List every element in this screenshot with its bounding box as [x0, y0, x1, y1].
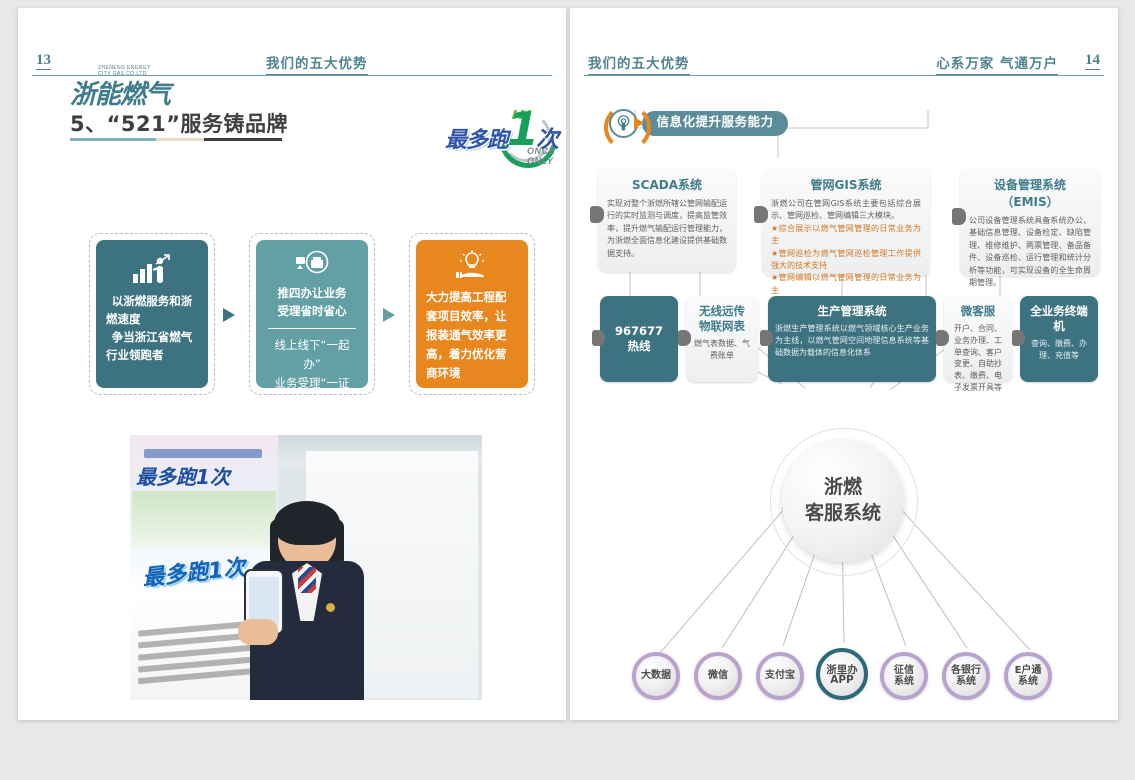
section-title-underline — [70, 138, 282, 141]
card-3-line-2: 套项目效率，让 — [426, 307, 518, 326]
service-box-production-title: 生产管理系统 — [775, 304, 929, 319]
card-3-line-4: 高，着力优化营 — [426, 345, 518, 364]
service-box-production[interactable]: 生产管理系统 浙燃生产管理系统以燃气领域核心生产业务为主线，以燃气管网空间地理信… — [768, 296, 936, 382]
photo-banner-sub1: 最多跑1次 — [141, 550, 247, 593]
service-nub-1 — [592, 330, 605, 346]
lightbulb-hand-icon — [454, 250, 490, 280]
right-header-title-right: 心系万家 气通万户 — [936, 52, 1058, 75]
service-box-hotline-title-1: 967677 — [607, 324, 671, 339]
service-nub-3 — [760, 330, 773, 346]
right-page-header: 我们的五大优势 心系万家 气通万户 14 — [570, 40, 1118, 76]
info-box-scada[interactable]: SCADA系统 实现对整个浙燃所辖公管网输配运行的实时监测与调度，提高监管效率，… — [598, 168, 736, 272]
target-touch-icon — [616, 115, 631, 132]
customer-service-hub[interactable]: 浙燃 客服系统 — [782, 440, 904, 562]
channel-zhelib-app[interactable]: 浙里办 APP — [816, 648, 868, 700]
section-title: 5、“521”服务铸品牌 — [70, 108, 288, 138]
banner-arrow-icon — [634, 117, 644, 129]
run-once-en2: ONCE ONLY — [527, 146, 569, 166]
service-box-iot-title-1: 无线远传 — [693, 304, 751, 319]
card-1-line-3: 争当浙江省燃气 — [106, 328, 198, 346]
channel-ehutong[interactable]: E户通 系统 — [1004, 652, 1052, 700]
left-header-title: 我们的五大优势 — [266, 52, 368, 75]
service-nub-4 — [936, 330, 949, 346]
channel-bigdata[interactable]: 大数据 — [632, 652, 680, 700]
channel-banks-label-2: 系统 — [946, 675, 986, 688]
service-box-wechat-title: 微客服 — [951, 304, 1005, 319]
bar-chart-person-icon — [132, 254, 172, 284]
channel-alipay-label: 支付宝 — [760, 670, 800, 683]
run-once-logo: 最多跑 1 次 ONCE ONLY — [443, 104, 569, 166]
card-2-divider — [268, 328, 356, 329]
banner-label: 信息化提升服务能力 — [642, 111, 788, 130]
channel-wechat[interactable]: 微信 — [694, 652, 742, 700]
service-box-iot-meter[interactable]: 无线远传 物联网表 燃气表数据、气费账单 — [686, 296, 758, 382]
logo-cn-text: 浙能燃气 — [70, 74, 170, 111]
channel-credit-label-2: 系统 — [884, 675, 924, 688]
card-2-line-2: 受理省时省心 — [266, 302, 358, 320]
channel-banks[interactable]: 各银行 系统 — [942, 652, 990, 700]
run-once-cn: 最多跑 — [445, 122, 508, 154]
section-banner: 信息化提升服务能力 — [604, 104, 794, 144]
photo-staff-badge — [326, 603, 335, 612]
info-box-gis-body: 浙燃公司在管网GIS系统主要包括综合展示、管网巡检、管网编辑三大模块。 — [771, 198, 921, 223]
info-box-scada-nub — [590, 206, 604, 223]
left-page: 13 ZHENENG ENERGY CITY GAS CO.LTD 浙能燃气 我… — [18, 8, 566, 720]
info-box-emis-nub — [952, 208, 966, 225]
service-box-iot-title-2: 物联网表 — [693, 319, 751, 334]
info-box-emis[interactable]: 设备管理系统（EMIS） 公司设备管理系统具备系统办公、基础信息管理、设备检定、… — [960, 168, 1100, 276]
service-box-terminal-desc: 查询、缴费、办理、充值等 — [1027, 338, 1091, 362]
info-box-emis-title: 设备管理系统（EMIS） — [969, 176, 1091, 210]
service-box-production-desc: 浙燃生产管理系统以燃气领域核心生产业务为主线，以燃气管网空间地理信息系统等基础数… — [775, 323, 929, 358]
photo-banner-toptext — [144, 449, 262, 458]
flow-arrow-1 — [223, 308, 235, 322]
channel-bigdata-label: 大数据 — [636, 670, 676, 683]
service-counter-icon — [294, 250, 330, 276]
channel-ehutong-label-2: 系统 — [1008, 675, 1048, 688]
card-3-line-5: 商环境 — [426, 364, 518, 383]
info-box-emis-body: 公司设备管理系统具备系统办公、基础信息管理、设备检定、缺陷管理、维修维护、两票管… — [969, 215, 1091, 289]
left-page-header: 13 ZHENENG ENERGY CITY GAS CO.LTD 浙能燃气 我… — [18, 40, 566, 76]
card-2-line-1: 推四办让业务 — [266, 284, 358, 302]
info-box-gis-star-2: ★管网巡检为燃气管网巡检管理工作提供强大的技术支持 — [771, 248, 921, 273]
advantage-card-1[interactable]: 以浙燃服务和浙 燃速度 争当浙江省燃气 行业领跑者 — [96, 240, 208, 388]
banner-pill: 信息化提升服务能力 — [642, 111, 788, 136]
card-2-item-1: 线上线下“一起办” — [266, 336, 358, 374]
card-2-item-2: 业务受理“一证办” — [266, 374, 358, 412]
service-nub-2 — [678, 330, 691, 346]
advantage-card-2[interactable]: 推四办让业务 受理省时省心 线上线下“一起办” 业务受理“一证办” 申请通气“马… — [256, 240, 368, 388]
right-header-title-left: 我们的五大优势 — [588, 52, 690, 75]
card-1-line-2: 燃速度 — [106, 310, 198, 328]
right-page: 我们的五大优势 心系万家 气通万户 14 — [570, 8, 1118, 720]
right-page-number: 14 — [1085, 52, 1100, 70]
advantage-card-3[interactable]: 大力提高工程配 套项目效率，让 报装通气效率更 高，着力优化营 商环境 — [416, 240, 528, 388]
left-page-number: 13 — [36, 52, 51, 70]
service-box-hotline[interactable]: 967677 热线 — [600, 296, 678, 382]
slide-pair-canvas: 13 ZHENENG ENERGY CITY GAS CO.LTD 浙能燃气 我… — [0, 0, 1135, 780]
card-1-line-1: 以浙燃服务和浙 — [106, 292, 198, 310]
channel-alipay[interactable]: 支付宝 — [756, 652, 804, 700]
service-nub-5 — [1012, 330, 1025, 346]
info-box-gis-star-1: ★综合展示以燃气管网管理的日常业务为主 — [771, 223, 921, 248]
info-box-scada-title: SCADA系统 — [607, 176, 727, 193]
info-box-gis[interactable]: 管网GIS系统 浙燃公司在管网GIS系统主要包括综合展示、管网巡检、管网编辑三大… — [762, 168, 930, 276]
info-box-gis-nub — [754, 206, 768, 223]
office-photo: 最多跑1次 最多跑1次 — [130, 435, 482, 700]
service-box-terminal[interactable]: 全业务终端机 查询、缴费、办理、充值等 — [1020, 296, 1098, 382]
info-box-scada-body: 实现对整个浙燃所辖公管网输配运行的实时监测与调度，提高监管效率，提升燃气输配运行… — [607, 198, 727, 260]
service-box-terminal-title: 全业务终端机 — [1027, 304, 1091, 334]
company-logo: ZHENENG ENERGY CITY GAS CO.LTD 浙能燃气 — [70, 72, 180, 106]
hub-line-1: 浙燃 — [782, 474, 904, 501]
channel-credit[interactable]: 征信 系统 — [880, 652, 928, 700]
service-box-wechat-desc: 开户、合同、业务办理、工单查询、客户变更、自助抄表、缴费、电子发票开具等 — [951, 323, 1005, 394]
card-3-line-3: 报装通气效率更 — [426, 326, 518, 345]
card-3-line-1: 大力提高工程配 — [426, 288, 518, 307]
service-box-iot-desc: 燃气表数据、气费账单 — [693, 338, 751, 362]
service-box-hotline-title-2: 热线 — [607, 339, 671, 354]
channel-wechat-label: 微信 — [698, 670, 738, 683]
card-1-line-4: 行业领跑者 — [106, 346, 198, 364]
channel-zhelib-label-2: APP — [820, 674, 864, 687]
service-box-wechat-service[interactable]: 微客服 开户、合同、业务办理、工单查询、客户变更、自助抄表、缴费、电子发票开具等 — [944, 296, 1012, 382]
info-box-gis-star-3: ★管网编辑以燃气管网管理的日常业务为主 — [771, 272, 921, 297]
hub-line-2: 客服系统 — [782, 500, 904, 527]
photo-banner-headline: 最多跑1次 — [136, 461, 230, 490]
info-box-gis-title: 管网GIS系统 — [771, 176, 921, 193]
flow-arrow-2 — [383, 308, 395, 322]
photo-staff-person — [248, 507, 366, 700]
